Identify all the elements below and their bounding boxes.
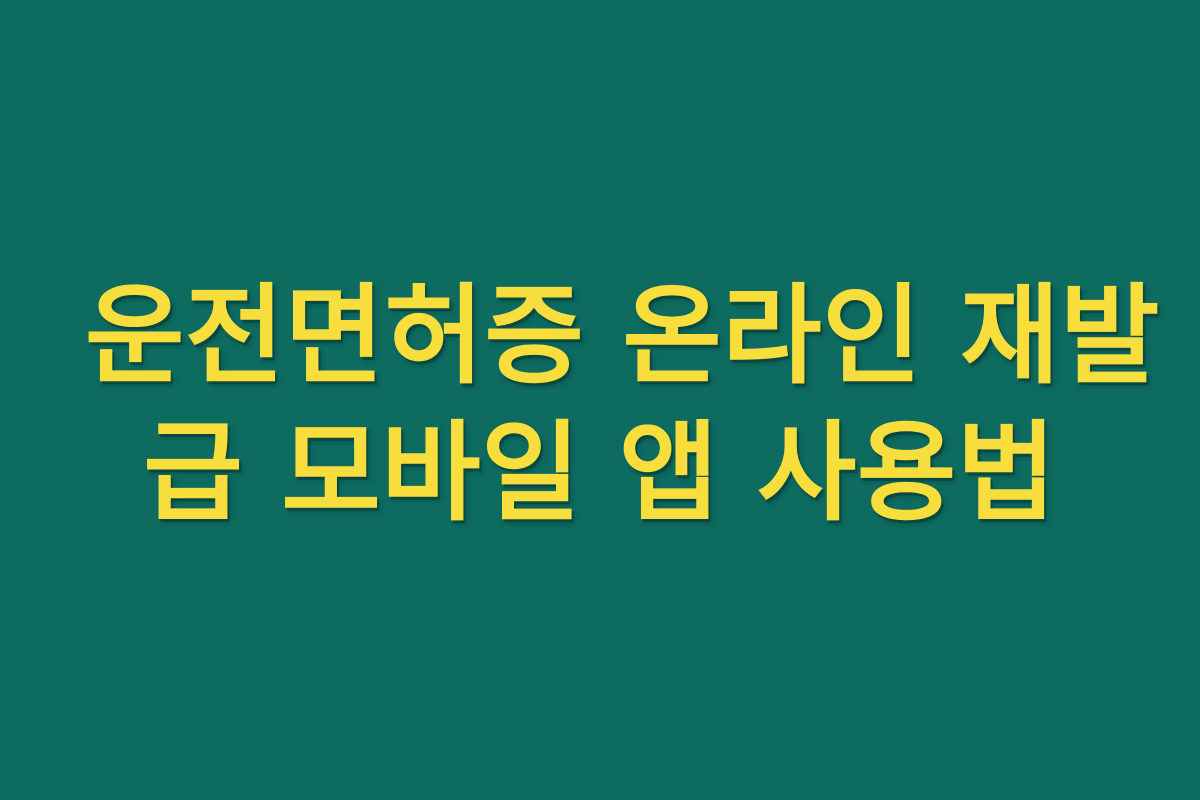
banner-title-line-2: 급 모바일 앱 사용법 (85, 405, 1115, 542)
banner-canvas: 운전면허증 온라인 재발 급 모바일 앱 사용법 (0, 0, 1200, 800)
banner-title: 운전면허증 온라인 재발 급 모바일 앱 사용법 (85, 268, 1115, 542)
title-block: 운전면허증 온라인 재발 급 모바일 앱 사용법 (85, 268, 1115, 542)
banner-title-line-1: 운전면허증 온라인 재발 (85, 268, 1115, 405)
